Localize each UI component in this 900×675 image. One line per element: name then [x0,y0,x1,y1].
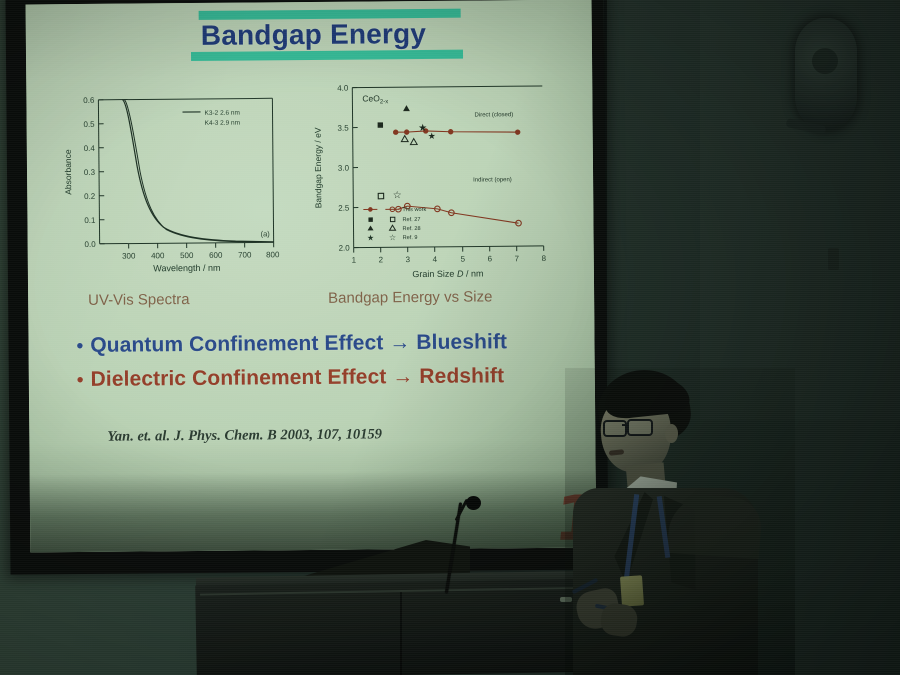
svg-text:300: 300 [122,251,136,260]
svg-text:K4-3 2.9 nm: K4-3 2.9 nm [205,120,240,127]
svg-text:(a): (a) [261,229,271,238]
svg-text:Wavelength / nm: Wavelength / nm [153,263,220,274]
svg-text:3: 3 [406,255,411,264]
microphone-head-icon [466,496,481,510]
slide-title-block: Bandgap Energy [191,9,461,62]
svg-text:1: 1 [352,256,357,265]
svg-text:0.0: 0.0 [84,240,96,249]
charts-row: 0.6 0.5 0.4 0.3 0.2 0.1 0.0 [26,78,594,283]
svg-text:0.1: 0.1 [84,216,96,225]
svg-text:☆: ☆ [393,190,402,201]
projection-screen-frame: Bandgap Energy [5,0,608,575]
svg-text:Direct (closed): Direct (closed) [475,112,514,118]
svg-text:Ref. 27: Ref. 27 [402,217,420,223]
svg-text:Ref. 28: Ref. 28 [403,226,421,232]
svg-text:800: 800 [266,250,280,259]
chart-uv-vis-spectra: 0.6 0.5 0.4 0.3 0.2 0.1 0.0 [54,86,286,283]
svg-text:K3-2 2.6 nm: K3-2 2.6 nm [204,110,239,117]
svg-text:600: 600 [209,251,223,260]
presenter-glasses-right-lens [627,419,653,436]
svg-text:2.0: 2.0 [339,244,351,253]
chart-b-svg: 4.0 3.5 3.0 2.5 2.0 [306,78,558,285]
svg-text:400: 400 [151,251,165,260]
lecture-hall-scene: Bandgap Energy [0,0,900,675]
presenter-glasses-bridge [622,424,629,426]
svg-text:2: 2 [379,255,384,264]
page-title: Bandgap Energy [201,19,461,51]
svg-text:0.4: 0.4 [84,144,96,153]
svg-text:CeO2-x: CeO2-x [362,93,388,105]
wall-fixture [828,248,839,270]
caption-bandgap-vs-size: Bandgap Energy vs Size [328,288,492,306]
speaker-cone-icon [812,48,838,74]
svg-text:Absorbance: Absorbance [63,149,73,195]
svg-text:6: 6 [488,254,493,263]
svg-text:4: 4 [433,255,438,264]
svg-text:3.0: 3.0 [338,164,350,173]
presenter-glasses-left-lens [603,420,627,437]
svg-text:700: 700 [238,250,252,259]
bullet-dot-icon: • [77,371,84,390]
svg-text:0.6: 0.6 [83,96,95,105]
chart-captions: UV-Vis Spectra Bandgap Energy vs Size [28,287,594,292]
svg-text:★: ★ [367,233,374,242]
svg-text:5: 5 [461,255,466,264]
svg-text:0.2: 0.2 [84,192,96,201]
presenter-name-badge [620,575,644,606]
svg-text:8: 8 [542,254,547,263]
bullet-list: • Quantum Confinement Effect → Blueshift… [76,330,577,402]
svg-text:0.5: 0.5 [83,120,95,129]
citation-text: Yan. et. al. J. Phys. Chem. B 2003, 107,… [107,425,547,446]
bullet-text: Quantum Confinement Effect → Blueshift [90,330,507,358]
bullet-dot-icon: • [76,337,83,356]
caption-uv-vis: UV-Vis Spectra [88,291,190,309]
svg-text:Ref. 9: Ref. 9 [403,235,418,241]
chart-a-svg: 0.6 0.5 0.4 0.3 0.2 0.1 0.0 [54,86,286,283]
wall-speaker-icon [795,18,857,130]
svg-text:Grain Size D / nm: Grain Size D / nm [412,268,483,279]
title-accent-bar-bottom [191,50,463,61]
svg-text:★: ★ [418,123,427,134]
svg-text:4.0: 4.0 [337,84,349,93]
svg-text:★: ★ [428,132,436,142]
svg-text:500: 500 [180,251,194,260]
svg-text:Bandgap Energy / eV: Bandgap Energy / eV [313,127,324,208]
lectern-panel-seam [400,592,402,675]
svg-text:☆: ☆ [389,233,396,242]
projection-screen-surface: Bandgap Energy [26,0,597,552]
bullet-item-quantum-confinement: • Quantum Confinement Effect → Blueshift [76,330,576,358]
presentation-slide: Bandgap Energy [26,0,597,552]
svg-text:This work: This work [402,207,426,213]
presenter-ear [665,424,678,443]
presenter [565,368,795,675]
svg-text:3.5: 3.5 [337,124,349,133]
svg-text:2.5: 2.5 [338,204,350,213]
slide-shadow-band [30,469,597,552]
bullet-text: Dielectric Confinement Effect → Redshift [90,364,504,392]
svg-text:Indirect (open): Indirect (open) [473,177,512,183]
chart-bandgap-vs-size: 4.0 3.5 3.0 2.5 2.0 [306,78,558,285]
svg-text:7: 7 [515,254,520,263]
bullet-item-dielectric-confinement: • Dielectric Confinement Effect → Redshi… [77,364,577,392]
svg-text:0.3: 0.3 [84,168,96,177]
